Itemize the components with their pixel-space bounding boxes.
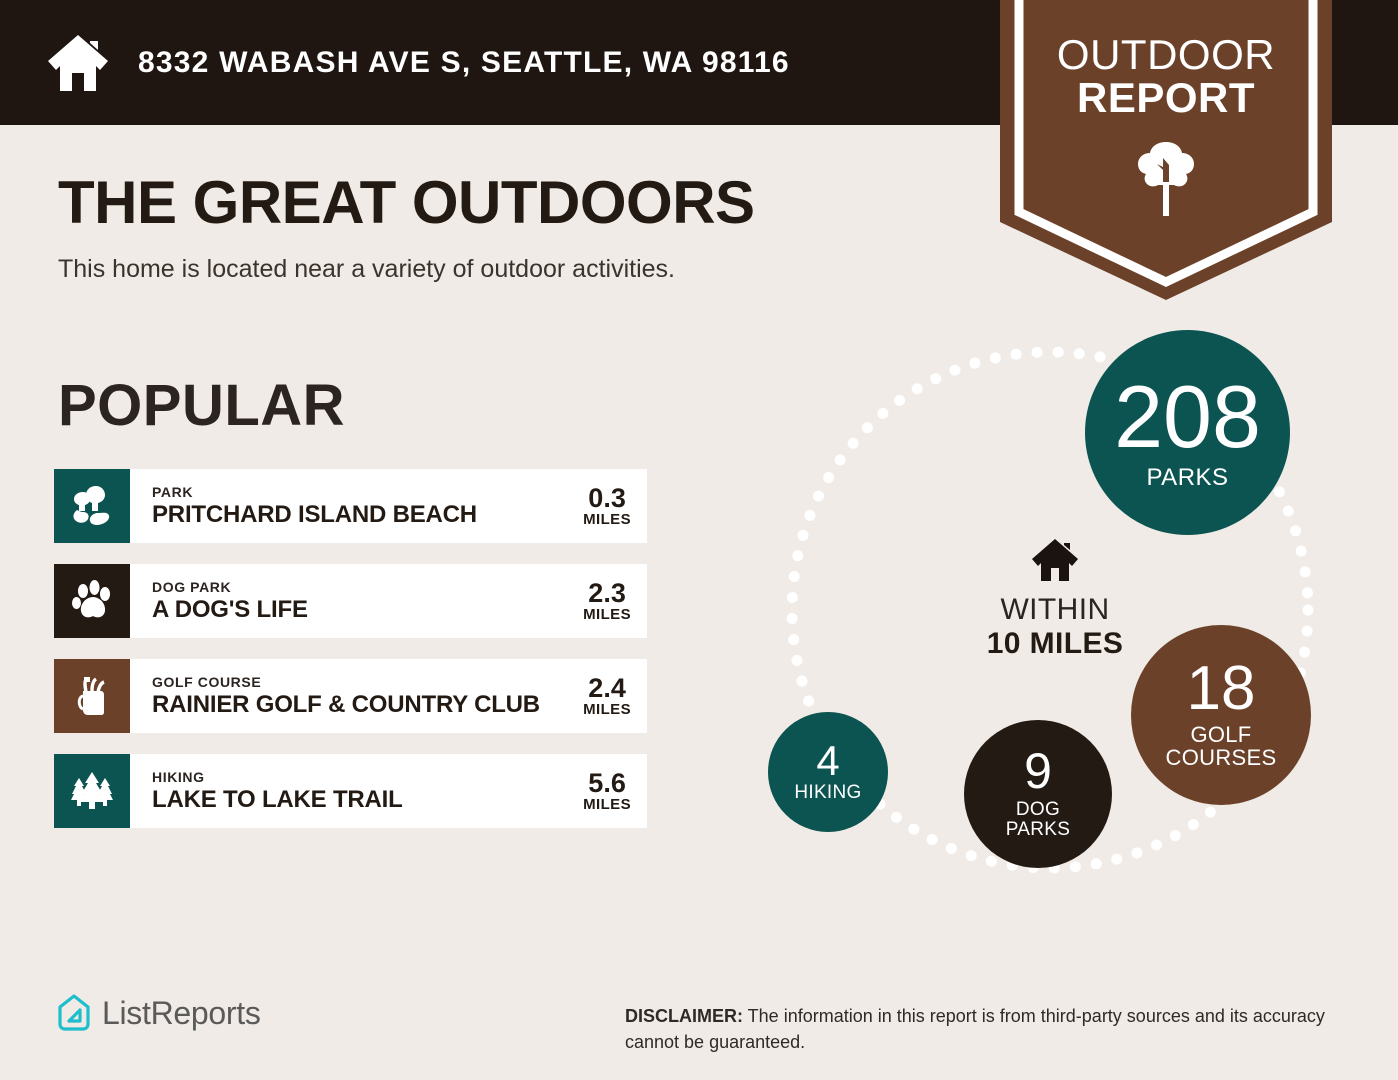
row-name: RAINIER GOLF & COUNTRY CLUB (152, 691, 577, 719)
disclaimer: DISCLAIMER: The information in this repo… (625, 1003, 1345, 1055)
row-distance-unit: MILES (583, 702, 631, 719)
house-icon (46, 33, 110, 93)
row-distance-value: 0.3 (588, 484, 626, 512)
row-distance: 0.3 MILES (577, 469, 647, 543)
row-name: LAKE TO LAKE TRAIL (152, 786, 577, 814)
listreports-logo-text: ListReports (102, 995, 261, 1032)
chart-center-line1: WITHIN (920, 593, 1190, 627)
list-item[interactable]: DOG PARK A DOG'S LIFE 2.3 MILES (54, 564, 647, 638)
row-category: GOLF COURSE (152, 674, 577, 691)
bubble-hiking-label: HIKING (794, 783, 861, 803)
bubble-dogparks-value: 9 (1024, 748, 1052, 796)
disclaimer-label: DISCLAIMER: (625, 1006, 743, 1026)
row-text: DOG PARK A DOG'S LIFE (130, 564, 577, 638)
row-distance-value: 2.4 (588, 674, 626, 702)
bubble-dogparks-label: DOG PARKS (1006, 800, 1071, 840)
bubble-dog-parks[interactable]: 9 DOG PARKS (964, 720, 1112, 868)
bubble-hiking-value: 4 (816, 741, 839, 781)
pine-trees-icon (68, 770, 116, 812)
house-icon (1031, 538, 1079, 582)
list-item[interactable]: PARK PRITCHARD ISLAND BEACH 0.3 MILES (54, 469, 647, 543)
row-distance: 2.4 MILES (577, 659, 647, 733)
bubble-parks-label: PARKS (1146, 465, 1228, 490)
row-category: PARK (152, 484, 577, 501)
bubble-golf-label: GOLF COURSES (1166, 723, 1277, 769)
outdoor-report-badge: OUTDOOR REPORT (1000, 0, 1332, 300)
row-text: GOLF COURSE RAINIER GOLF & COUNTRY CLUB (130, 659, 577, 733)
header-address: 8332 WABASH AVE S, SEATTLE, WA 98116 (138, 46, 790, 80)
paw-print-icon (71, 580, 113, 622)
bubble-dogparks-label-line2: PARKS (1006, 820, 1071, 840)
bubble-parks-value: 208 (1114, 375, 1261, 459)
list-item[interactable]: GOLF COURSE RAINIER GOLF & COUNTRY CLUB … (54, 659, 647, 733)
bubble-hiking[interactable]: 4 HIKING (768, 712, 888, 832)
chart-center-label: WITHIN 10 MILES (920, 538, 1190, 660)
row-text: PARK PRITCHARD ISLAND BEACH (130, 469, 577, 543)
row-name: PRITCHARD ISLAND BEACH (152, 501, 577, 529)
bubble-golf-label-line2: COURSES (1166, 746, 1277, 769)
park-tree-path-icon (70, 485, 114, 527)
row-distance: 5.6 MILES (577, 754, 647, 828)
badge-line-outdoor: OUTDOOR (1000, 34, 1332, 77)
row-icon-box (54, 659, 130, 733)
list-item[interactable]: HIKING LAKE TO LAKE TRAIL 5.6 MILES (54, 754, 647, 828)
row-category: HIKING (152, 769, 577, 786)
badge-line-report: REPORT (1000, 77, 1332, 120)
row-icon-box (54, 754, 130, 828)
listreports-logo[interactable]: ListReports (56, 993, 261, 1033)
row-distance-value: 5.6 (588, 769, 626, 797)
bubble-parks[interactable]: 208 PARKS (1085, 330, 1290, 535)
row-distance-unit: MILES (583, 607, 631, 624)
row-icon-box (54, 469, 130, 543)
page-title: THE GREAT OUTDOORS (58, 168, 755, 237)
row-distance: 2.3 MILES (577, 564, 647, 638)
bubble-dogparks-label-line1: DOG (1006, 800, 1071, 820)
row-text: HIKING LAKE TO LAKE TRAIL (130, 754, 577, 828)
tree-icon (1133, 140, 1199, 218)
listreports-house-logo-icon (56, 993, 92, 1033)
chart-center-line2: 10 MILES (920, 627, 1190, 660)
within-10-miles-bubble-chart: 208 PARKS 18 GOLF COURSES 9 DOG PARKS 4 … (740, 320, 1360, 920)
bubble-golf-value: 18 (1187, 660, 1256, 719)
golf-bag-icon (72, 674, 112, 718)
badge-title: OUTDOOR REPORT (1000, 34, 1332, 120)
row-distance-value: 2.3 (588, 579, 626, 607)
page-subtitle: This home is located near a variety of o… (58, 255, 675, 284)
row-icon-box (54, 564, 130, 638)
row-distance-unit: MILES (583, 512, 631, 529)
row-name: A DOG'S LIFE (152, 596, 577, 624)
bubble-golf-label-line1: GOLF (1166, 723, 1277, 746)
popular-heading: POPULAR (58, 372, 345, 439)
row-category: DOG PARK (152, 579, 577, 596)
row-distance-unit: MILES (583, 797, 631, 814)
popular-list: PARK PRITCHARD ISLAND BEACH 0.3 MILES DO… (54, 469, 647, 849)
